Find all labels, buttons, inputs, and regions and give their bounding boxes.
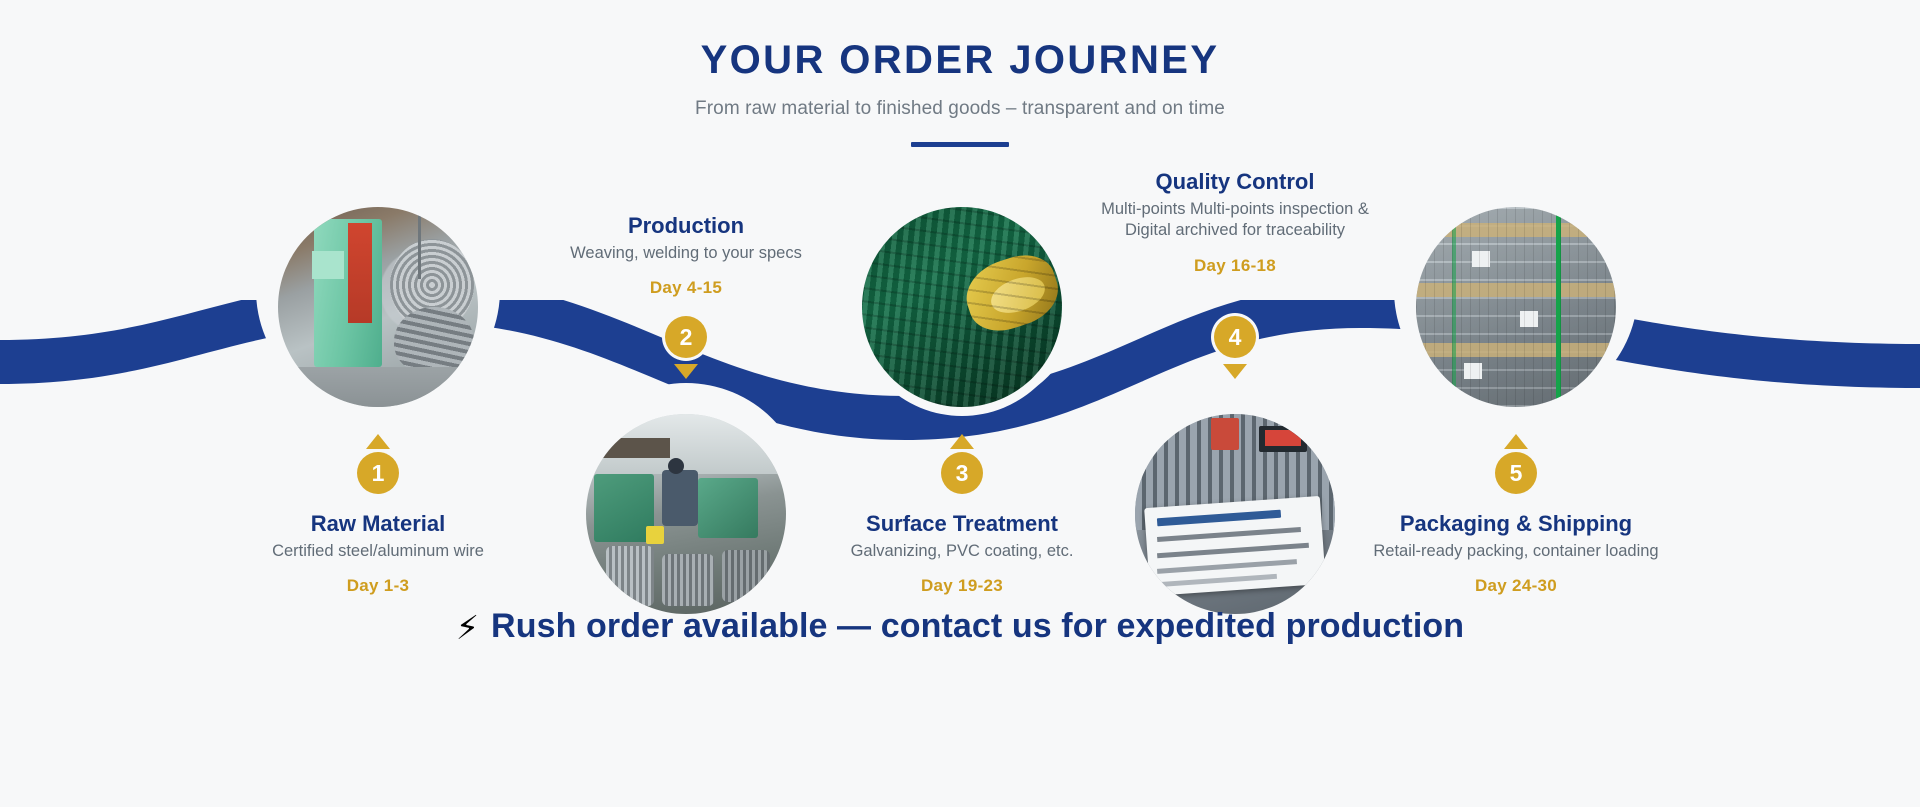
step-2-badge[interactable]: 2 <box>665 316 707 358</box>
step-1-badge[interactable]: 1 <box>357 452 399 494</box>
step-5-day: Day 24-30 <box>1368 576 1664 596</box>
wire-drawing-machine-photo <box>278 207 478 407</box>
step-4-image-frame <box>1126 405 1344 623</box>
step-1-image-frame <box>269 198 487 416</box>
step-5-image-frame <box>1407 198 1625 416</box>
rush-order-text: Rush order available — contact us for ex… <box>491 607 1464 645</box>
step-4-description: Multi-points Multi-points inspection & D… <box>1090 199 1380 243</box>
step-2[interactable]: Production Weaving, welding to your spec… <box>536 212 836 632</box>
step-1-day: Day 1-3 <box>228 576 528 596</box>
step-3-title: Surface Treatment <box>812 510 1112 538</box>
step-3-day: Day 19-23 <box>812 576 1112 596</box>
step-3-number: 3 <box>956 462 969 485</box>
step-2-image-frame <box>577 405 795 623</box>
page-title: YOUR ORDER JOURNEY <box>0 38 1920 82</box>
step-4-pointer <box>1223 364 1247 379</box>
step-5[interactable]: 5 Packaging & Shipping Retail-ready pack… <box>1368 198 1664 638</box>
step-2-day: Day 4-15 <box>536 278 836 298</box>
step-1-description: Certified steel/aluminum wire <box>228 541 528 563</box>
step-2-text: Production Weaving, welding to your spec… <box>536 212 836 298</box>
page-subtitle: From raw material to finished goods – tr… <box>0 98 1920 120</box>
step-1-text: Raw Material Certified steel/aluminum wi… <box>228 510 528 596</box>
step-4-title: Quality Control <box>1090 168 1380 196</box>
step-2-description: Weaving, welding to your specs <box>536 243 836 265</box>
rush-order-banner[interactable]: ⚡Rush order available — contact us for e… <box>0 607 1920 647</box>
step-1-title: Raw Material <box>228 510 528 538</box>
step-1[interactable]: 1 Raw Material Certified steel/aluminum … <box>228 198 528 618</box>
step-3-text: Surface Treatment Galvanizing, PVC coati… <box>812 510 1112 596</box>
step-5-description: Retail-ready packing, container loading <box>1368 541 1664 563</box>
title-divider <box>911 142 1009 147</box>
step-2-title: Production <box>536 212 836 240</box>
step-1-pointer <box>366 434 390 449</box>
step-2-number: 2 <box>680 326 693 349</box>
step-3-pointer <box>950 434 974 449</box>
step-3-badge[interactable]: 3 <box>941 452 983 494</box>
header: YOUR ORDER JOURNEY From raw material to … <box>0 38 1920 147</box>
step-5-pointer <box>1504 434 1528 449</box>
step-3-description: Galvanizing, PVC coating, etc. <box>812 541 1112 563</box>
step-4-day: Day 16-18 <box>1090 256 1380 276</box>
weaving-machine-workshop-photo <box>586 414 786 614</box>
pvc-coated-green-mesh-photo <box>862 207 1062 407</box>
step-5-title: Packaging & Shipping <box>1368 510 1664 538</box>
step-4[interactable]: Quality Control Multi-points Multi-point… <box>1090 168 1380 628</box>
step-3[interactable]: 3 Surface Treatment Galvanizing, PVC coa… <box>812 198 1112 618</box>
step-5-number: 5 <box>1510 462 1523 485</box>
step-5-text: Packaging & Shipping Retail-ready packin… <box>1368 510 1664 596</box>
order-journey-infographic: YOUR ORDER JOURNEY From raw material to … <box>0 0 1920 807</box>
step-5-badge[interactable]: 5 <box>1495 452 1537 494</box>
step-2-pointer <box>674 364 698 379</box>
palletized-wire-mesh-packaging-photo <box>1416 207 1616 407</box>
step-3-image-frame <box>853 198 1071 416</box>
inspection-id-card-photo <box>1135 414 1335 614</box>
step-4-text: Quality Control Multi-points Multi-point… <box>1090 168 1380 276</box>
step-1-number: 1 <box>372 462 385 485</box>
step-4-number: 4 <box>1229 326 1242 349</box>
lightning-bolt-icon: ⚡ <box>456 609 479 646</box>
step-4-badge[interactable]: 4 <box>1214 316 1256 358</box>
